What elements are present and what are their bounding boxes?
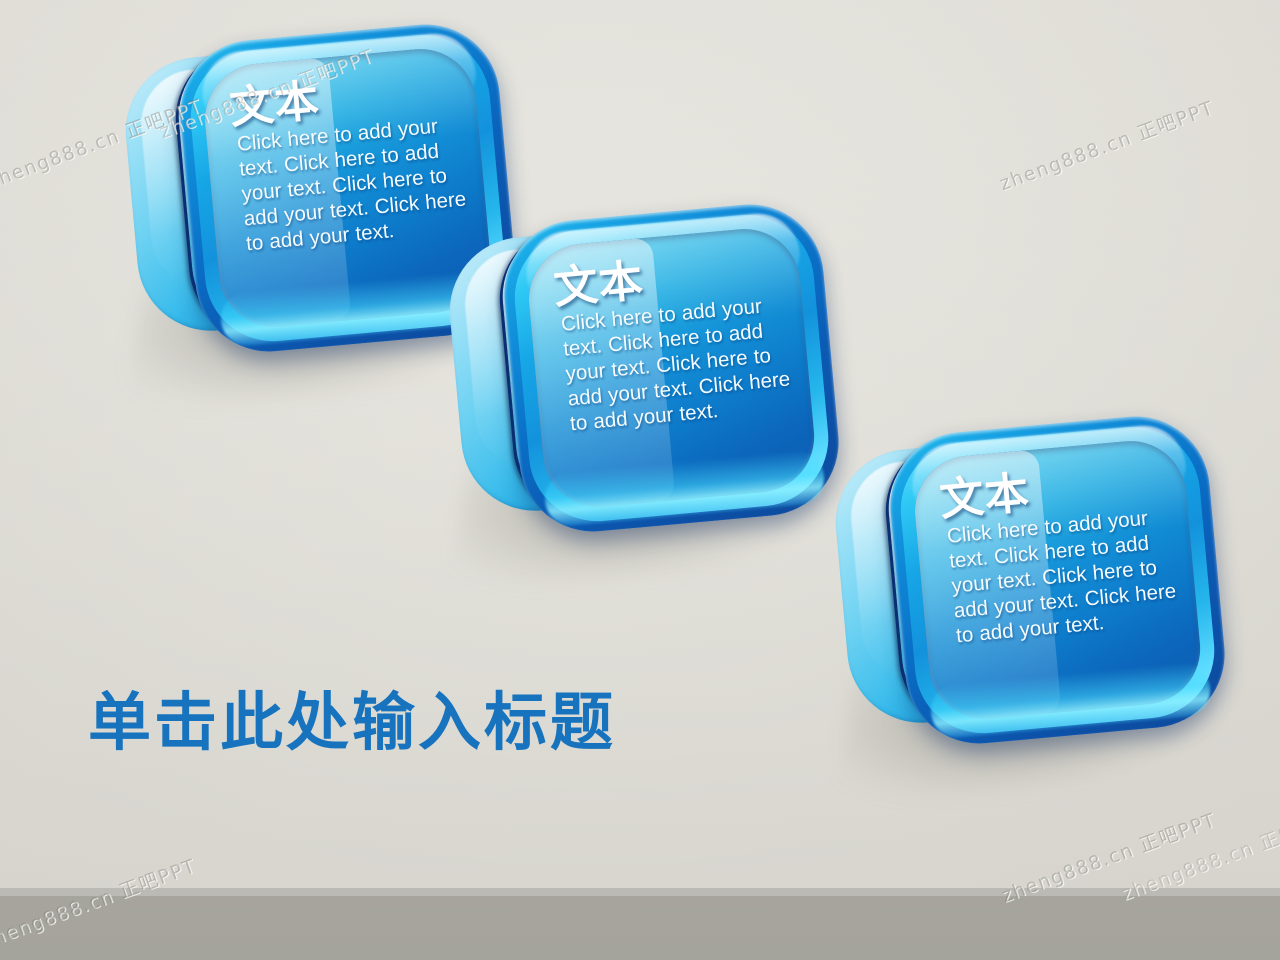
slide-canvas: 文本 Click here to add your text. Click he…	[0, 0, 1280, 960]
content-card[interactable]: 文本 Click here to add your text. Click he…	[838, 404, 1234, 768]
content-card[interactable]: 文本 Click here to add your text. Click he…	[452, 192, 848, 556]
slide-title[interactable]: 单击此处输入标题	[88, 672, 616, 763]
footer-strip	[0, 888, 1280, 896]
footer-band	[0, 896, 1280, 960]
card-3d-body: 文本 Click here to add your text. Click he…	[436, 175, 863, 573]
card-3d-body: 文本 Click here to add your text. Click he…	[822, 387, 1249, 785]
